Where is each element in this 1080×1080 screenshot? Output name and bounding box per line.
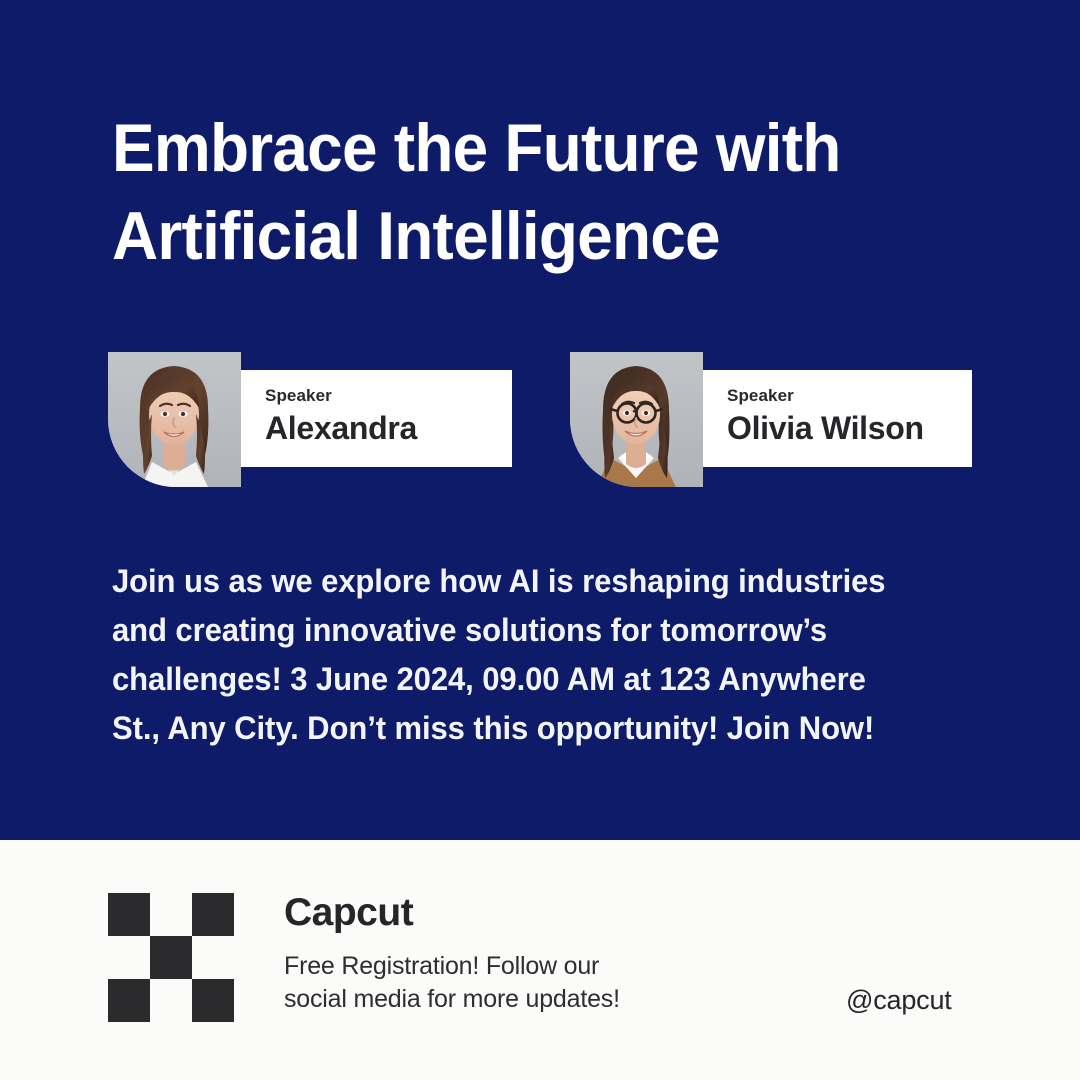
- brand-tagline-line-1: Free Registration! Follow our: [284, 950, 804, 983]
- speaker-list: Speaker Alexandra: [108, 352, 974, 487]
- headline-line-2: Artificial Intelligence: [112, 192, 958, 280]
- event-description-line-1: Join us as we explore how AI is reshapin…: [112, 557, 966, 606]
- social-handle[interactable]: @capcut: [846, 985, 952, 1016]
- logo-cell: [108, 979, 150, 1022]
- logo-cell: [192, 936, 234, 979]
- speaker-card[interactable]: Speaker Alexandra: [108, 352, 512, 487]
- logo-cell: [150, 979, 192, 1022]
- speaker-photo: [108, 352, 241, 487]
- headline-line-1: Embrace the Future with: [112, 104, 958, 192]
- speaker-role-label: Speaker: [265, 387, 512, 404]
- poster-canvas: Embrace the Future with Artificial Intel…: [0, 0, 1080, 1080]
- logo-cell: [150, 936, 192, 979]
- brand-tagline: Free Registration! Follow our social med…: [284, 950, 804, 1016]
- checkerboard-logo-icon: [108, 893, 234, 1022]
- speaker-name-bar: Speaker Alexandra: [238, 370, 512, 467]
- speaker-name: Olivia Wilson: [727, 412, 972, 446]
- logo-cell: [192, 979, 234, 1022]
- event-description: Join us as we explore how AI is reshapin…: [112, 557, 992, 753]
- speaker-card[interactable]: Speaker Olivia Wilson: [570, 352, 974, 487]
- brand-name: Capcut: [284, 893, 804, 934]
- logo-cell: [192, 893, 234, 936]
- event-description-line-3: challenges! 3 June 2024, 09.00 AM at 123…: [112, 655, 966, 704]
- speaker-name-bar: Speaker Olivia Wilson: [700, 370, 972, 467]
- logo-cell: [150, 893, 192, 936]
- speaker-role-label: Speaker: [727, 387, 972, 404]
- speaker-name: Alexandra: [265, 412, 512, 446]
- brand-tagline-line-2: social media for more updates!: [284, 983, 804, 1016]
- speaker-photo: [570, 352, 703, 487]
- headline: Embrace the Future with Artificial Intel…: [112, 104, 1012, 281]
- brand-block: Capcut Free Registration! Follow our soc…: [284, 893, 804, 1016]
- logo-cell: [108, 936, 150, 979]
- logo-cell: [108, 893, 150, 936]
- event-description-line-2: and creating innovative solutions for to…: [112, 606, 966, 655]
- event-description-line-4: St., Any City. Don’t miss this opportuni…: [112, 704, 966, 753]
